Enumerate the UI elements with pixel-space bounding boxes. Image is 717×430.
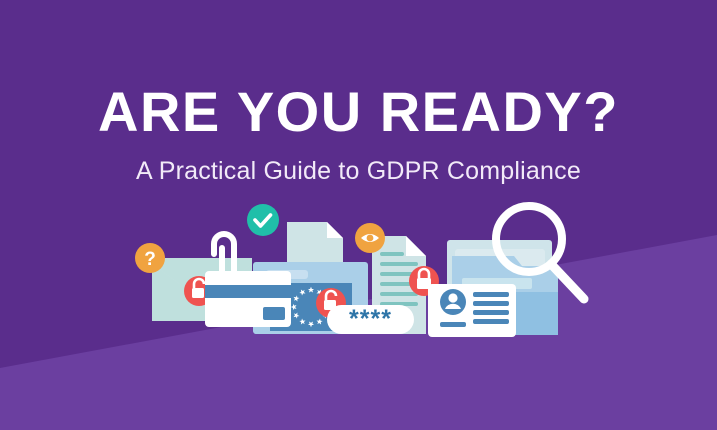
- svg-text:?: ?: [144, 249, 156, 270]
- id-card-icon: [428, 284, 516, 337]
- password-icon: ****: [327, 305, 414, 334]
- credit-card-icon: [205, 271, 291, 327]
- eye-icon: [355, 223, 385, 253]
- illustration-layer: ? ****: [0, 0, 717, 430]
- check-icon: [247, 204, 279, 236]
- question-mark-icon: ?: [135, 243, 165, 273]
- svg-text:****: ****: [349, 305, 392, 333]
- gdpr-banner: ? ****: [0, 0, 717, 430]
